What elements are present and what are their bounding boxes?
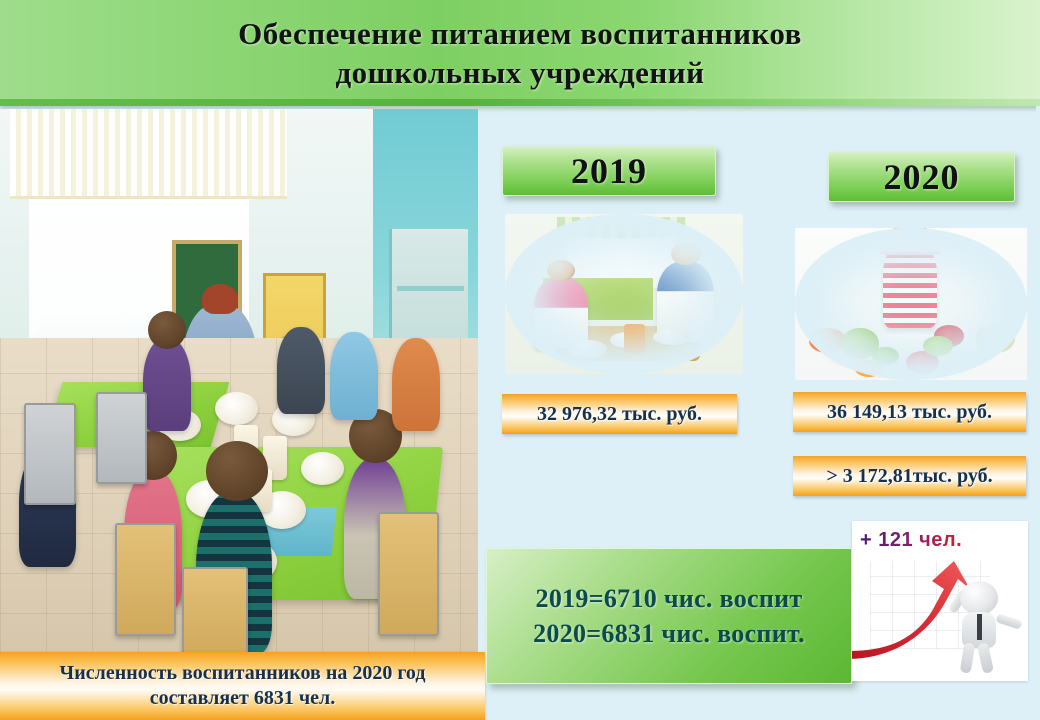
slide-header: Обеспечение питанием воспитанников дошко… [0,0,1040,106]
year-badge-2020-label: 2020 [884,156,960,198]
amount-box-2019: 32 976,32 тыс. руб. [502,394,737,434]
photo-2019-children-serving [505,214,743,374]
classroom-photo-scene [0,109,478,654]
enrollment-caption-line-2: составляет 6831 чел. [60,686,426,711]
right-edge-strip [1036,106,1040,720]
enrollment-stats-box: 2019=6710 чис. воспит 2020=6831 чис. вос… [486,548,852,684]
photo-chair [24,403,76,505]
amount-difference-value: > 3 172,81тыс. руб. [826,465,992,488]
growth-figure-leg-left [960,642,976,673]
photo-2020-baby-with-vegetables [795,228,1027,380]
classroom-photo [0,109,478,654]
year-badge-2020: 2020 [828,152,1015,202]
page-title: Обеспечение питанием воспитанников дошко… [0,14,1040,92]
growth-figure-head [960,581,998,615]
photo-child-head [206,441,268,501]
year-badge-2019: 2019 [502,146,716,196]
year-badge-2019-label: 2019 [571,150,647,192]
page-title-line-2: дошкольных учреждений [0,53,1040,92]
photo-chair [96,392,148,483]
photo-bowl [215,392,258,425]
photo-2020-oval-mask [795,228,1027,380]
enrollment-caption: Численность воспитанников на 2020 год со… [0,652,485,720]
photo-chair [182,567,248,654]
enrollment-caption-text: Численность воспитанников на 2020 год со… [54,661,432,711]
photo-chair [378,512,439,636]
growth-illustration: + 121 чел. [852,521,1028,681]
growth-figure-tie [977,614,982,640]
photo-child [143,338,191,431]
enrollment-stats-line-2020: 2020=6831 чис. воспит. [533,619,805,649]
photo-child [330,332,378,419]
growth-figure-arm-right [995,613,1023,630]
amount-2020-value: 36 149,13 тыс. руб. [827,401,992,424]
photo-2019-oval-mask [505,214,743,374]
photo-child [277,327,325,414]
photo-child [392,338,440,431]
enrollment-caption-line-1: Численность воспитанников на 2020 год [60,661,426,686]
growth-figure-icon [948,581,1010,673]
page-title-line-1: Обеспечение питанием воспитанников [0,14,1040,53]
amount-box-2020: 36 149,13 тыс. руб. [793,392,1026,432]
photo-chair [115,523,176,636]
slide-canvas: Обеспечение питанием воспитанников дошко… [0,0,1040,720]
growth-label: + 121 чел. [860,529,962,552]
photo-child-head [148,311,186,349]
amount-difference-box: > 3 172,81тыс. руб. [793,456,1026,496]
amount-2019-value: 32 976,32 тыс. руб. [537,403,702,426]
enrollment-stats-line-2019: 2019=6710 чис. воспит [536,584,803,614]
photo-bowl [301,452,344,485]
photo-curtain [10,109,287,199]
